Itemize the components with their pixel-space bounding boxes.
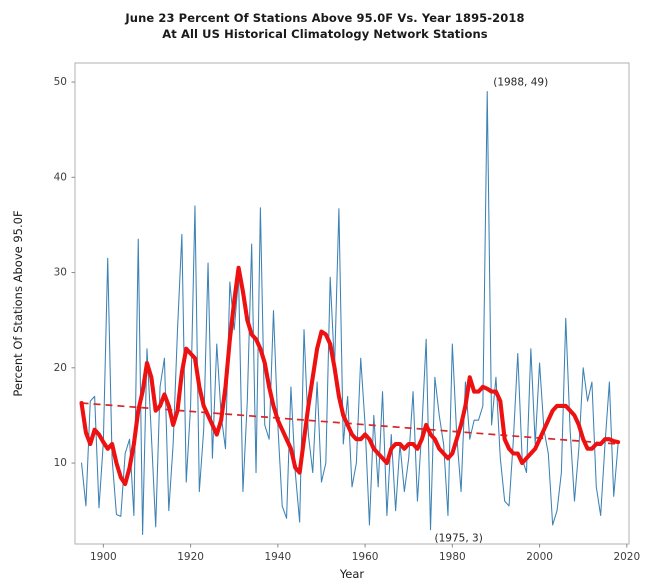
raw-data-line xyxy=(82,92,619,535)
y-tick-label: 50 xyxy=(54,76,67,88)
y-tick-label: 40 xyxy=(54,171,67,183)
y-tick-label: 10 xyxy=(54,457,67,469)
x-tick-label: 1920 xyxy=(177,551,204,563)
chart-figure: June 23 Percent Of Stations Above 95.0F … xyxy=(0,0,650,587)
annotation-peak-1988: (1988, 49) xyxy=(493,77,548,89)
annotations-group: (1988, 49)(1975, 3) xyxy=(435,77,549,545)
x-tick-label: 1960 xyxy=(352,551,379,563)
series-group xyxy=(82,92,619,535)
y-tick-label: 30 xyxy=(54,267,67,279)
plot-canvas: 19001920194019601980200020201020304050 (… xyxy=(0,0,650,587)
x-axis-title: Year xyxy=(339,567,365,581)
x-tick-label: 2020 xyxy=(613,551,640,563)
annotation-low-1975: (1975, 3) xyxy=(435,533,483,545)
x-tick-label: 1900 xyxy=(90,551,117,563)
plot-frame xyxy=(75,63,629,544)
x-tick-label: 2000 xyxy=(526,551,553,563)
y-axis-title: Percent Of Stations Above 95.0F xyxy=(11,210,25,396)
x-tick-label: 1980 xyxy=(439,551,466,563)
y-tick-label: 20 xyxy=(54,362,67,374)
x-tick-label: 1940 xyxy=(264,551,291,563)
